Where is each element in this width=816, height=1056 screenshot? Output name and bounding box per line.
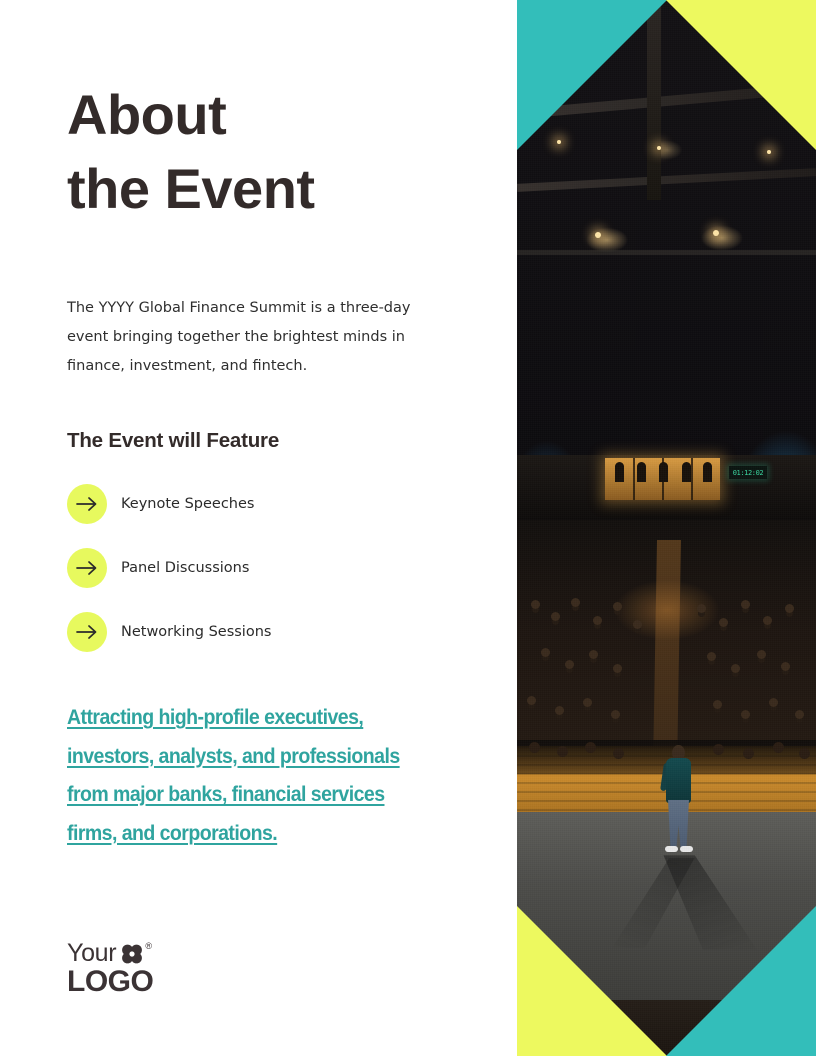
list-item-label: Panel Discussions: [121, 560, 249, 576]
photo-audience-head: [551, 612, 560, 621]
highlight-statement: Attracting high-profile executives, inve…: [67, 699, 439, 853]
photo-silhouette: [637, 462, 646, 482]
logo-word-your: Your: [67, 940, 116, 966]
photo-beam: [517, 250, 816, 255]
photo-audience-head: [785, 604, 794, 613]
photo-audience-head: [633, 620, 642, 629]
photo-audience-head: [593, 616, 602, 625]
photo-audience-head: [799, 748, 810, 759]
logo: Your ® LOGO: [67, 940, 197, 1000]
photo-audience-head: [731, 664, 740, 673]
photo-audience-head: [743, 748, 754, 759]
list-item-label: Networking Sessions: [121, 624, 271, 640]
photo-silhouette: [659, 462, 668, 482]
photo-audience-head: [781, 662, 790, 671]
photo-aisle: [653, 540, 681, 770]
photo-spotlight: [657, 146, 661, 150]
photo-audience-head: [527, 696, 536, 705]
photo-countdown-timer: 01:12:02: [729, 466, 767, 479]
photo-audience-head: [565, 660, 574, 669]
photo-spotlight: [767, 150, 771, 154]
photo-audience-head: [611, 710, 620, 719]
photo-audience-head: [795, 710, 804, 719]
arrow-right-icon: [67, 484, 107, 524]
event-photo-panel: 01:12:02: [517, 0, 816, 1056]
photo-spotlight: [595, 232, 601, 238]
photo-audience-head: [713, 744, 724, 755]
photo-audience-head: [529, 742, 540, 753]
photo-beam: [647, 0, 661, 200]
photo-audience-head: [585, 742, 596, 753]
photo-silhouette: [703, 462, 712, 482]
photo-audience-head: [719, 618, 728, 627]
page-title: About the Event: [67, 78, 497, 226]
photo-audience-head: [769, 698, 778, 707]
photo-audience-head: [571, 598, 580, 607]
photo-audience-head: [707, 652, 716, 661]
features-subheading: The Event will Feature: [67, 429, 279, 453]
list-item[interactable]: Networking Sessions: [67, 612, 467, 652]
photo-ceiling: [517, 0, 816, 470]
photo-audience-head: [773, 742, 784, 753]
photo-audience-head: [713, 700, 722, 709]
photo-audience-head: [555, 706, 564, 715]
photo-audience-head: [763, 616, 772, 625]
photo-audience-head: [557, 746, 568, 757]
photo-audience-head: [613, 602, 622, 611]
photo-silhouette: [615, 462, 624, 482]
event-photo: 01:12:02: [517, 0, 816, 1056]
photo-audience-head: [541, 648, 550, 657]
photo-audience-head: [741, 600, 750, 609]
photo-audience-head: [697, 604, 706, 613]
list-item-label: Keynote Speeches: [121, 496, 254, 512]
arrow-right-icon: [67, 548, 107, 588]
photo-audience-head: [531, 600, 540, 609]
photo-spotlight: [713, 230, 719, 236]
photo-stage-foot: [517, 1000, 816, 1056]
logo-top-row: Your ®: [67, 940, 197, 968]
list-item[interactable]: Keynote Speeches: [67, 484, 467, 524]
photo-speaker: [659, 745, 697, 865]
photo-audience-head: [589, 650, 598, 659]
content-column: About the Event The YYYY Global Finance …: [0, 0, 517, 1056]
photo-spotlight: [557, 140, 561, 144]
arrow-right-icon: [67, 612, 107, 652]
logo-word-logo: LOGO: [67, 967, 197, 997]
photo-audience-head: [583, 698, 592, 707]
photo-silhouette: [682, 462, 691, 482]
list-item[interactable]: Panel Discussions: [67, 548, 467, 588]
photo-audience-head: [613, 748, 624, 759]
intro-paragraph: The YYYY Global Finance Summit is a thre…: [67, 294, 447, 381]
photo-audience-head: [757, 650, 766, 659]
poster-page: About the Event The YYYY Global Finance …: [0, 0, 816, 1056]
photo-audience-head: [613, 664, 622, 673]
features-list: Keynote Speeches Panel Discussions: [67, 484, 467, 676]
photo-audience-head: [741, 710, 750, 719]
registered-trademark-icon: ®: [145, 942, 152, 951]
